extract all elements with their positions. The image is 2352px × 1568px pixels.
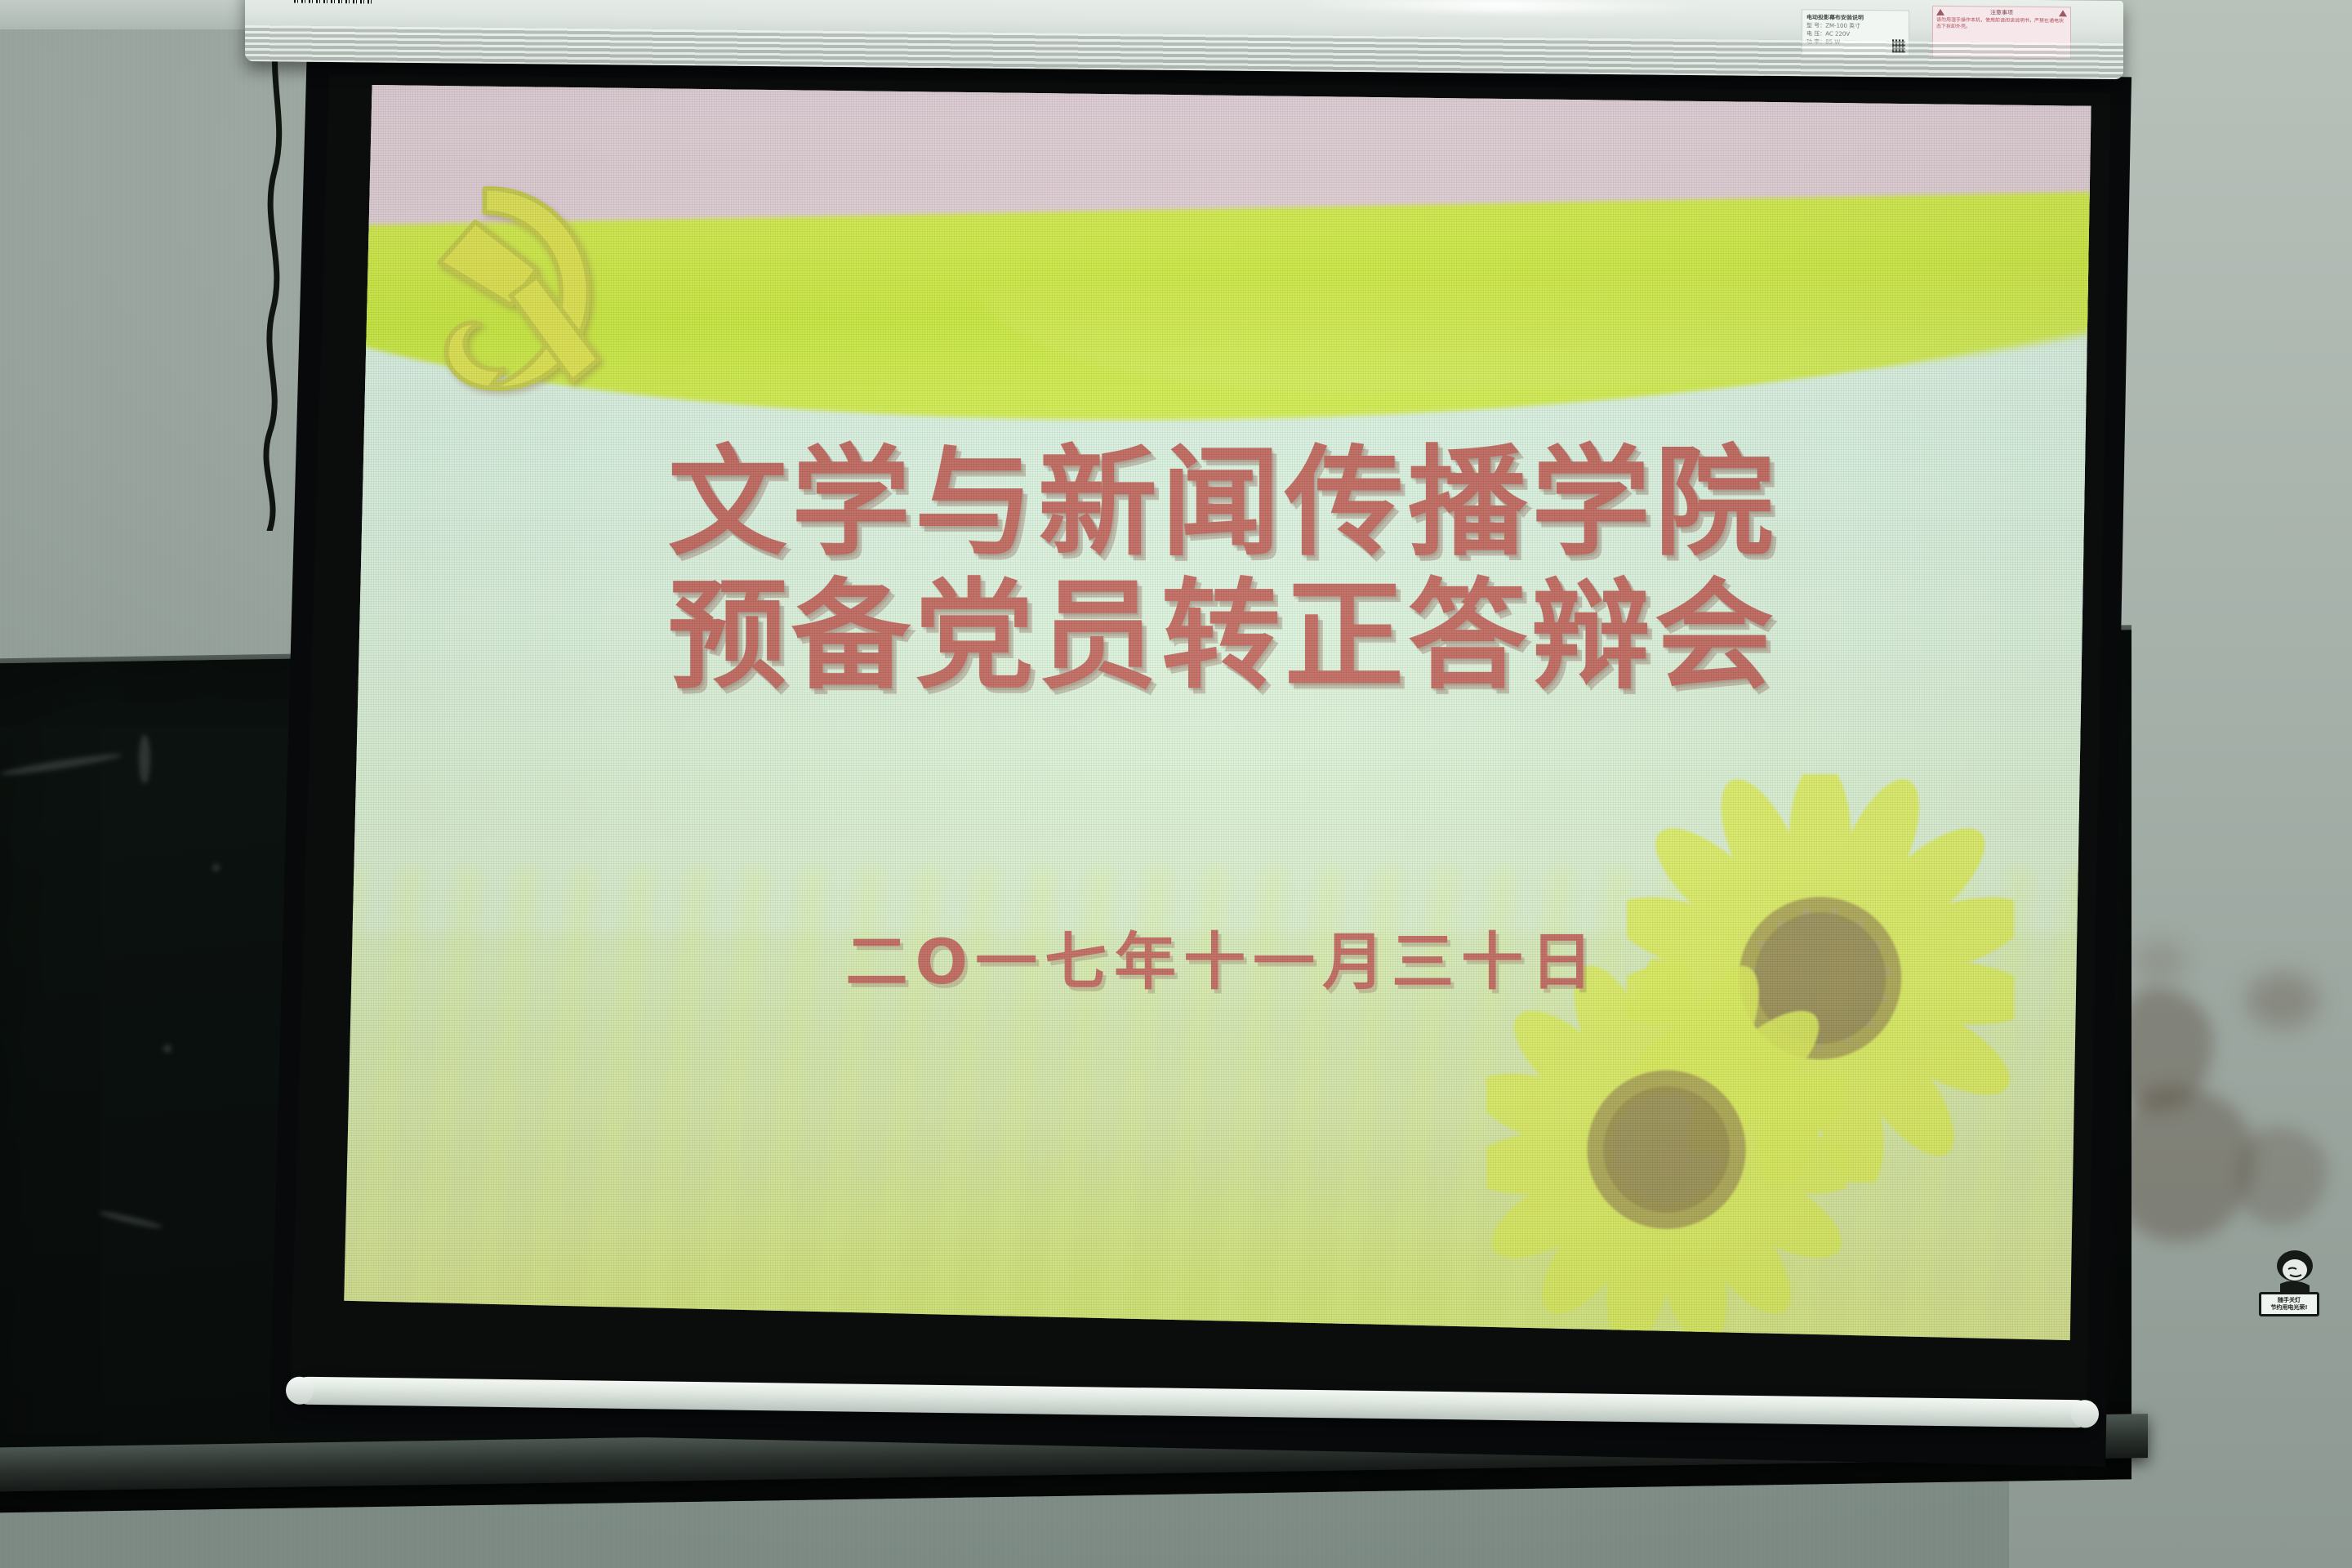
weight-bar-cap-left [286,1376,314,1404]
chalk-smudge [139,734,150,783]
warning-label-header: 注意事项 [1936,9,2067,17]
warning-label-title: 注意事项 [1990,9,2013,16]
chalk-smudge [0,751,122,778]
asset-barcode-label [294,0,372,3]
safety-cartoon-sticker: 随手关灯 节约用电光荣! [2257,1248,2321,1316]
chalk-smudge [163,1045,171,1053]
housing-highlight [1297,0,1710,14]
cpc-hammer-and-sickle-emblem [397,117,635,446]
projection-screen: 文学与新闻传播学院 预备党员转正答辩会 二O一七年十一月三十日 [269,57,2131,1478]
warning-triangle-icon [2059,10,2067,16]
warning-label-text: 请勿用湿手操作本机，使用前请阅读说明书，严禁在通电状态下拆卸外壳。 [1936,17,2067,32]
weight-bar-cap-right [2071,1400,2099,1428]
spec-label-title: 电动投影幕布安装说明 [1806,13,1904,22]
wall-stain-3 [2246,972,2319,1029]
sunflower-lower [1486,959,1846,1340]
chalk-smudge [98,1209,163,1231]
sticker-caption-line-1: 随手关灯 [2278,1297,2301,1303]
sticker-caption-line-2: 节约用电光荣! [2270,1304,2307,1311]
sticker-caption: 随手关灯 节约用电光荣! [2259,1292,2319,1316]
warning-triangle-icon [1936,9,1944,16]
spec-label-line-2: 电 压：AC 220V [1806,30,1850,38]
chalk-smudge [212,864,220,871]
spec-label-line-1: 型 号：ZM-100 英寸 [1806,22,1860,29]
projected-slide: 文学与新闻传播学院 预备党员转正答辩会 二O一七年十一月三十日 [344,77,2101,1392]
classroom-photo-scene: | [0,0,2352,1568]
slide-background [344,77,2101,1392]
wall-stain-5 [2131,939,2189,984]
